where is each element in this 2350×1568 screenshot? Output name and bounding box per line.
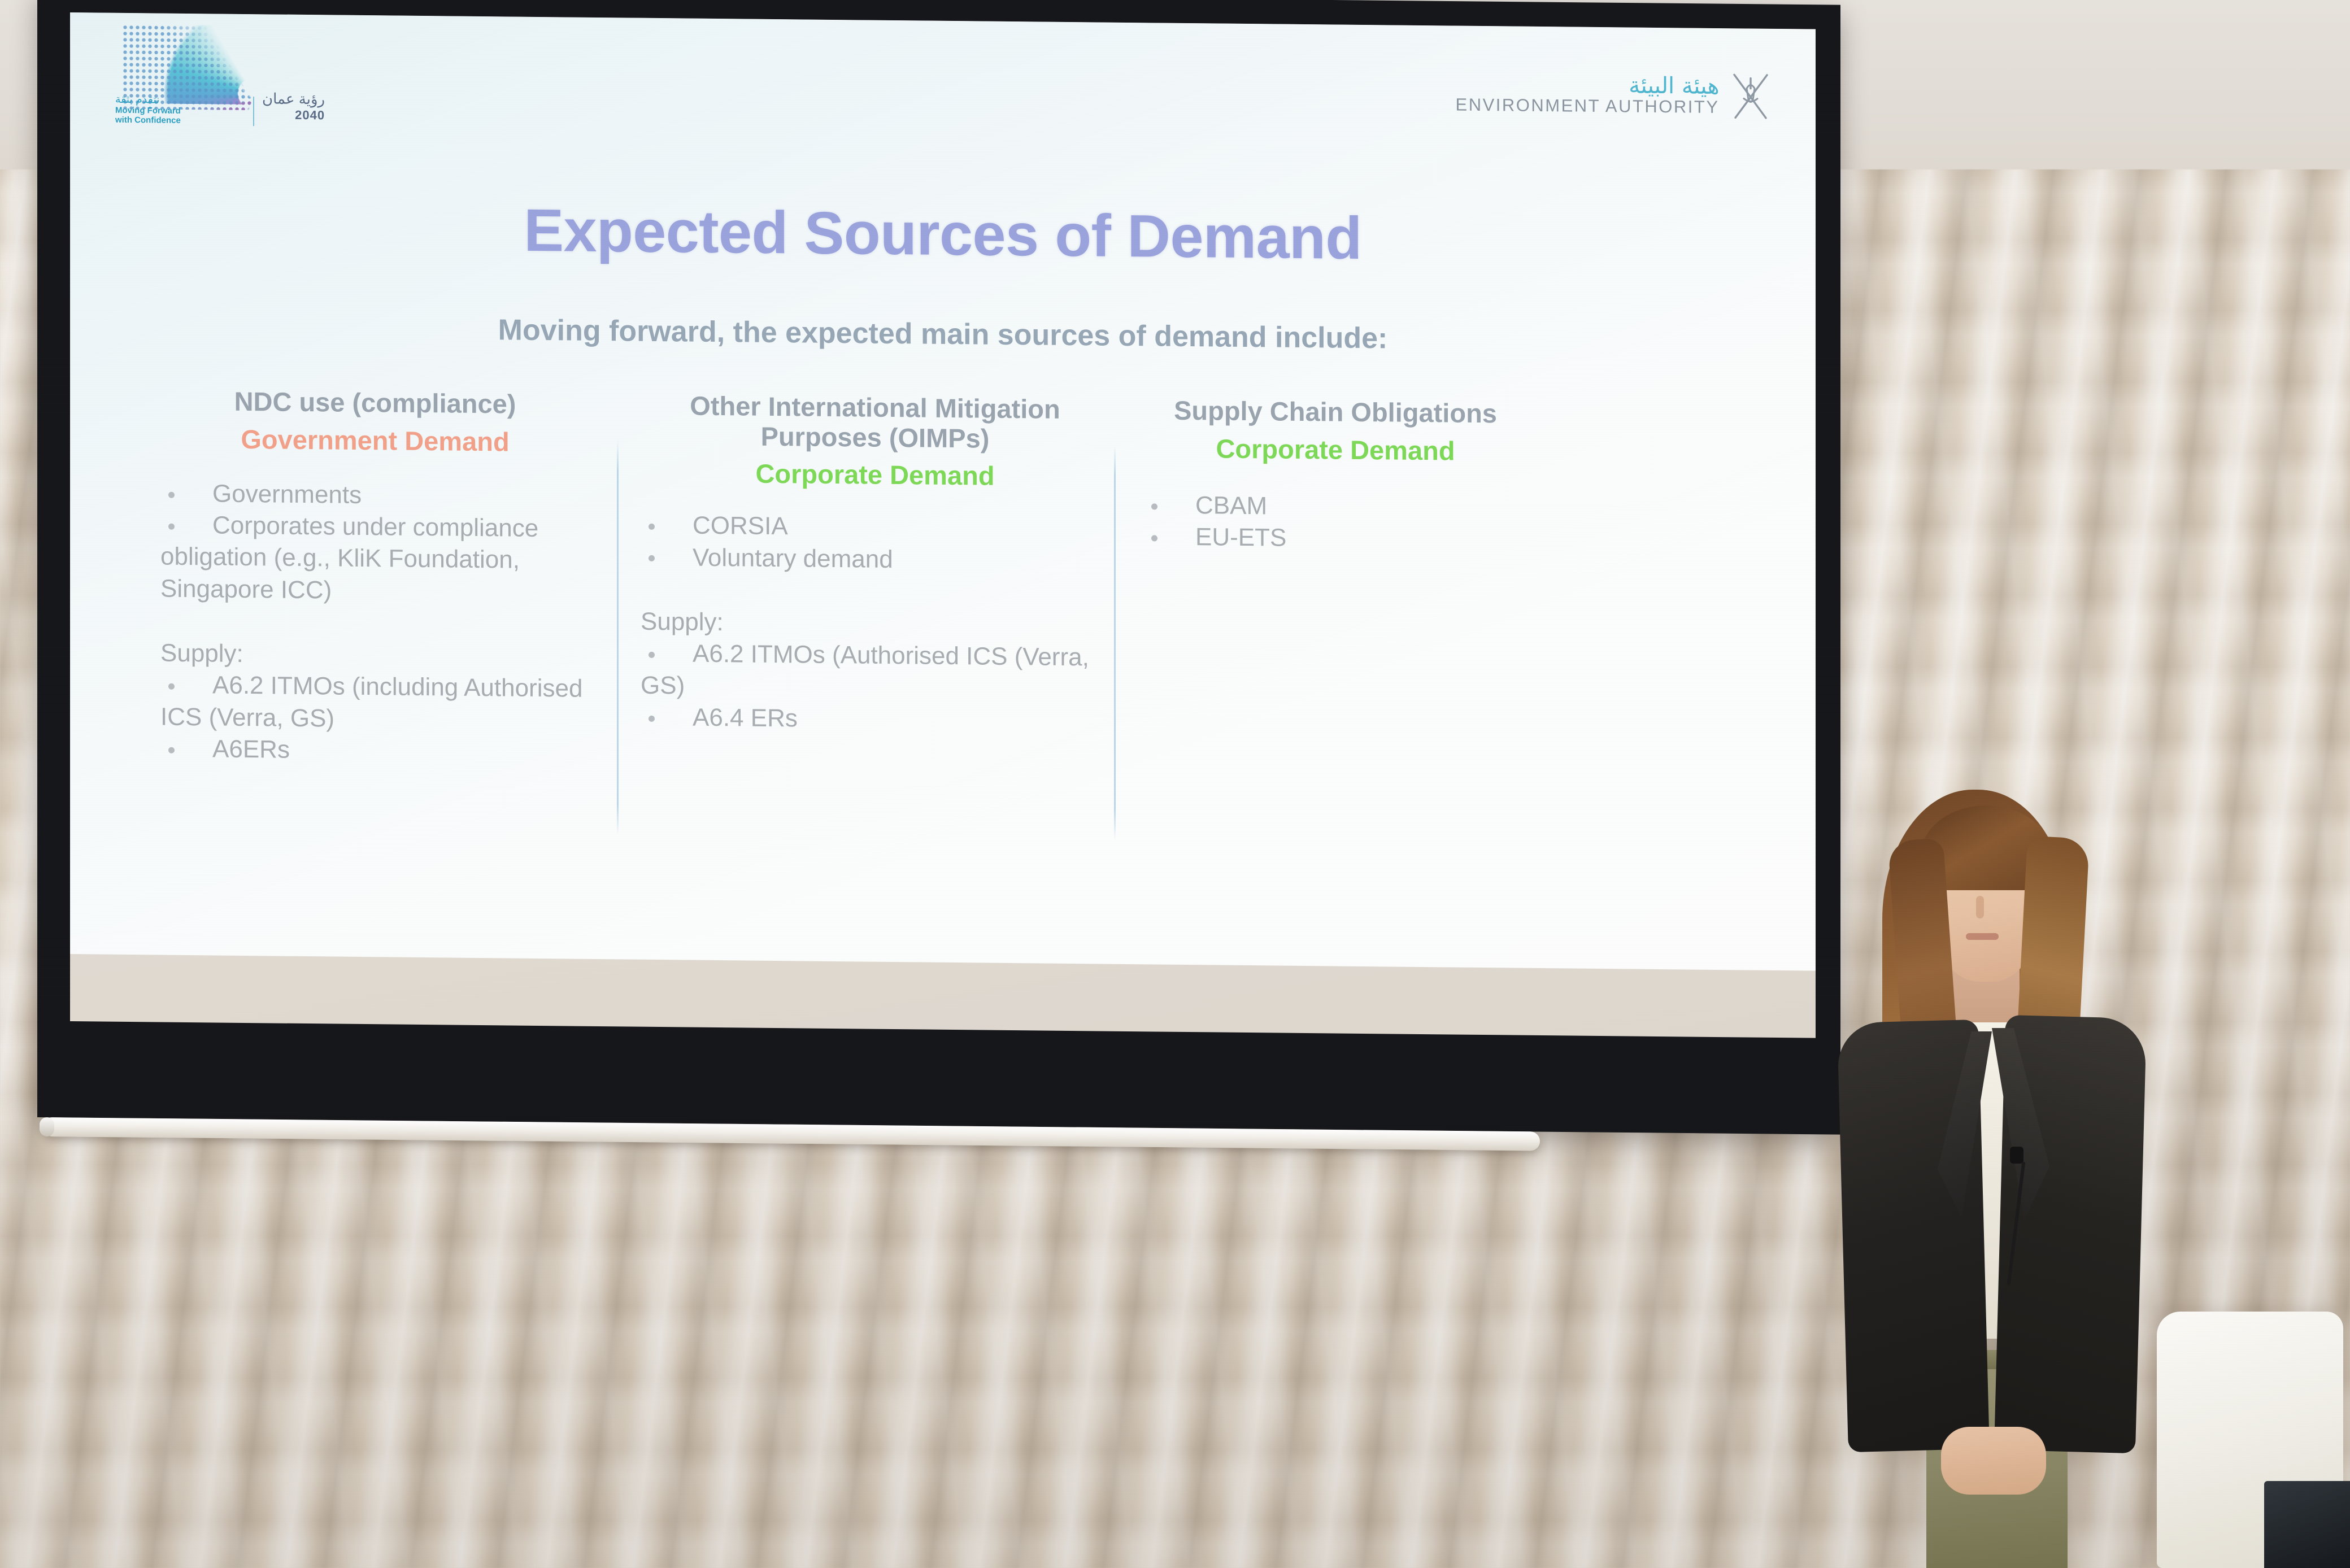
bullet-text: Corporates under compliance obligation (… — [160, 511, 538, 604]
bullet-dot-icon — [168, 523, 175, 529]
bullet-dot-icon — [168, 747, 175, 753]
dark-monitor — [2264, 1481, 2350, 1568]
bullet-marker — [160, 509, 212, 541]
presenter-nose — [1976, 896, 1984, 918]
bullet-marker — [1143, 521, 1195, 553]
bullet-text: Governments — [212, 480, 362, 509]
column-divider-1 — [617, 440, 619, 835]
column-2-heading: Other International Mitigation Purposes … — [641, 391, 1109, 455]
bullet-item: A6ERs — [160, 733, 590, 769]
column-3-body: CBAMEU-ETS — [1143, 489, 1527, 556]
column-1-demand-label: Government Demand — [160, 423, 590, 458]
roller-bar-cap — [40, 1117, 54, 1136]
column-supply-chain: Supply Chain Obligations Corporate Deman… — [1143, 395, 1527, 556]
column-2-body: CORSIAVoluntary demandSupply:A6.2 ITMOs … — [641, 509, 1109, 738]
bullet-item: EU-ETS — [1143, 521, 1527, 556]
bullet-dot-icon — [1151, 503, 1157, 509]
slide-logo-row: نتقدم بثقة Moving Forward with Confidenc… — [70, 12, 1816, 159]
bullet-item: CBAM — [1143, 489, 1527, 525]
bullet-marker — [160, 477, 212, 509]
environment-authority-logo: هيئة البيئة Environment Authority — [1421, 66, 1772, 137]
column-1-heading: NDC use (compliance) — [160, 386, 590, 420]
bullet-marker — [160, 669, 212, 702]
bullet-item: A6.2 ITMOs (including Authorised ICS (Ve… — [160, 669, 590, 737]
oman-year: 2040 — [262, 107, 325, 123]
bullet-marker — [641, 541, 693, 573]
body-spacer — [641, 573, 1109, 611]
bullet-item: A6.4 ERs — [641, 702, 1109, 738]
bullet-item: CORSIA — [641, 509, 1109, 546]
bullet-dot-icon — [649, 555, 655, 561]
column-2-demand-label: Corporate Demand — [641, 457, 1109, 493]
presentation-slide: نتقدم بثقة Moving Forward with Confidenc… — [70, 12, 1816, 971]
bullet-text: EU-ETS — [1195, 523, 1286, 552]
bullet-dot-icon — [649, 652, 655, 658]
oman-name-block: رؤية عمان 2040 — [262, 90, 325, 123]
slide-subtitle: Moving forward, the expected main source… — [70, 309, 1816, 360]
column-ndc-use: NDC use (compliance) Government Demand G… — [160, 386, 590, 769]
column-oimps: Other International Mitigation Purposes … — [641, 391, 1109, 738]
presenter-person — [1830, 785, 2147, 1568]
bullet-marker — [160, 733, 212, 765]
oman-national-emblem-icon — [1730, 69, 1772, 124]
bullet-dot-icon — [1151, 535, 1157, 541]
bullet-marker — [1143, 489, 1195, 521]
bullet-text: Voluntary demand — [693, 543, 893, 573]
conference-room: نتقدم بثقة Moving Forward with Confidenc… — [0, 0, 2350, 1568]
bullet-text: A6ERs — [212, 735, 290, 763]
presenter-mouth — [1966, 933, 1999, 940]
column-divider-2 — [1114, 445, 1116, 840]
bullet-dot-icon — [649, 524, 655, 530]
bullet-item: Governments — [160, 477, 590, 513]
column-3-heading: Supply Chain Obligations — [1143, 395, 1527, 429]
bullet-item: A6.2 ITMOs (Authorised ICS (Verra, GS) — [641, 638, 1109, 706]
bullet-text: CORSIA — [693, 512, 788, 541]
presenter-hands — [1941, 1427, 2046, 1495]
bullet-dot-icon — [168, 491, 175, 498]
bullet-dot-icon — [168, 683, 175, 690]
column-3-demand-label: Corporate Demand — [1143, 432, 1527, 467]
slide-title: Expected Sources of Demand — [70, 192, 1816, 277]
slide-columns: NDC use (compliance) Government Demand G… — [70, 385, 1816, 922]
ea-name-english: Environment Authority — [1456, 94, 1720, 116]
body-plain-line: Supply: — [641, 606, 1109, 642]
bullet-dot-icon — [649, 716, 655, 722]
lapel-microphone-icon — [2010, 1147, 2023, 1164]
ea-name-arabic: هيئة البيئة — [1629, 72, 1719, 99]
bullet-marker — [641, 638, 693, 670]
projector-screen: نتقدم بثقة Moving Forward with Confidenc… — [37, 0, 1840, 1117]
bullet-text: A6.4 ERs — [693, 703, 798, 732]
oman-vision-2040-logo: نتقدم بثقة Moving Forward with Confidenc… — [111, 21, 354, 136]
body-plain-line: Supply: — [160, 637, 590, 673]
bullet-marker — [641, 702, 693, 734]
ea-text-block: هيئة البيئة Environment Authority — [1456, 72, 1720, 117]
bullet-text: CBAM — [1195, 491, 1267, 520]
column-1-body: GovernmentsCorporates under compliance o… — [160, 477, 590, 769]
bullet-text: A6.2 ITMOs (including Authorised ICS (Ve… — [160, 672, 582, 732]
projector-screen-surface: نتقدم بثقة Moving Forward with Confidenc… — [70, 12, 1816, 1038]
oman-name-arabic: رؤية عمان — [262, 90, 325, 108]
bullet-text: A6.2 ITMOs (Authorised ICS (Verra, GS) — [641, 640, 1089, 699]
body-spacer — [160, 604, 590, 641]
bullet-item: Corporates under compliance obligation (… — [160, 509, 590, 608]
bullet-marker — [641, 509, 693, 542]
bullet-item: Voluntary demand — [641, 541, 1109, 577]
